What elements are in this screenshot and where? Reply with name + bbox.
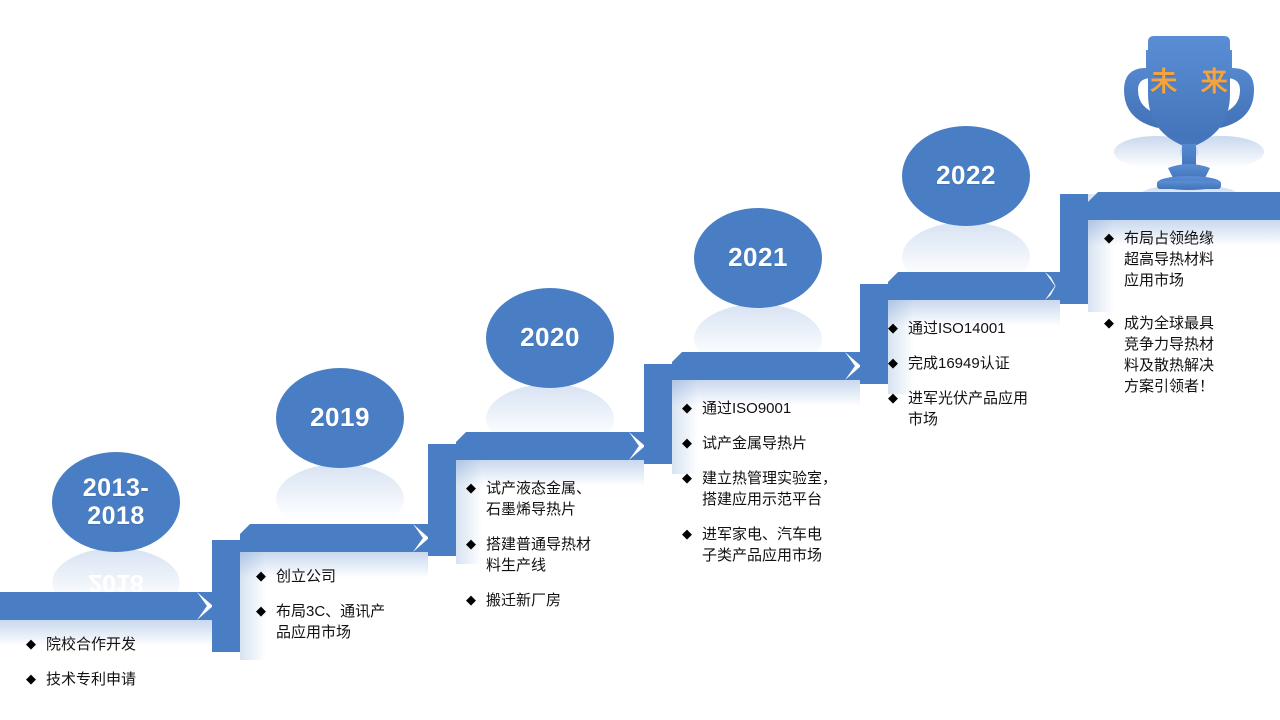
bullet-label: 进军家电、汽车电 子类产品应用市场 xyxy=(702,524,822,566)
bullet-item: ◆ 试产金属导热片 xyxy=(682,433,882,454)
diamond-bullet-icon: ◆ xyxy=(466,478,486,498)
bullet-item: ◆ 建立热管理实验室， 搭建应用示范平台 xyxy=(682,468,882,510)
bullet-item: ◆ 成为全球最具 竞争力导热材 料及散热解决 方案引领者！ xyxy=(1104,313,1274,397)
bullet-label: 搬迁新厂房 xyxy=(486,590,561,611)
diamond-bullet-icon: ◆ xyxy=(466,590,486,610)
diamond-bullet-icon: ◆ xyxy=(1104,313,1124,333)
diamond-bullet-icon: ◆ xyxy=(888,388,908,408)
year-label: 2019 xyxy=(310,403,370,432)
year-badge-reflection: 2018 xyxy=(52,548,180,618)
bullet-group-2019: ◆ 创立公司 ◆ 布局3C、通讯产 品应用市场 xyxy=(256,566,446,657)
bullet-label: 布局3C、通讯产 品应用市场 xyxy=(276,601,385,643)
year-badge-reflection xyxy=(276,464,404,534)
bullet-item: ◆ 完成16949认证 xyxy=(888,353,1078,374)
diamond-bullet-icon: ◆ xyxy=(682,524,702,544)
bullet-label: 通过ISO14001 xyxy=(908,318,1006,339)
diamond-bullet-icon: ◆ xyxy=(682,398,702,418)
diamond-bullet-icon: ◆ xyxy=(466,534,486,554)
diamond-bullet-icon: ◆ xyxy=(888,353,908,373)
bullet-group-2013-2018: ◆ 院校合作开发 ◆ 技术专利申请 xyxy=(26,634,226,704)
bullet-item: ◆ 通过ISO14001 xyxy=(888,318,1078,339)
year-badge-2022: 2022 xyxy=(902,126,1030,226)
bullet-label: 试产金属导热片 xyxy=(702,433,807,454)
diamond-bullet-icon: ◆ xyxy=(26,669,46,689)
diamond-bullet-icon: ◆ xyxy=(256,566,276,586)
year-label: 2020 xyxy=(520,323,580,352)
bullet-label: 通过ISO9001 xyxy=(702,398,791,419)
bullet-item: ◆ 技术专利申请 xyxy=(26,669,226,690)
bullet-item: ◆ 院校合作开发 xyxy=(26,634,226,655)
diamond-bullet-icon: ◆ xyxy=(682,468,702,488)
bullet-item: ◆ 通过ISO9001 xyxy=(682,398,882,419)
bullet-item: ◆ 试产液态金属、 石墨烯导热片 xyxy=(466,478,666,520)
step-riser-2 xyxy=(428,444,456,556)
bullet-item: ◆ 搬迁新厂房 xyxy=(466,590,666,611)
diamond-bullet-icon: ◆ xyxy=(1104,228,1124,248)
year-label: 2013- 2018 xyxy=(52,474,180,530)
bullet-item: ◆ 进军家电、汽车电 子类产品应用市场 xyxy=(682,524,882,566)
bullet-item: ◆ 创立公司 xyxy=(256,566,446,587)
diamond-bullet-icon: ◆ xyxy=(256,601,276,621)
year-badge-reflection xyxy=(486,384,614,454)
step-riser-4 xyxy=(860,284,888,384)
bullet-label: 技术专利申请 xyxy=(46,669,136,690)
trophy-icon: 未 来 xyxy=(1104,16,1274,201)
bullet-item: ◆ 布局3C、通讯产 品应用市场 xyxy=(256,601,446,643)
bullet-label: 试产液态金属、 石墨烯导热片 xyxy=(486,478,591,520)
timeline-infographic: 2013- 2018 2018 2019 2020 2021 2022 xyxy=(0,0,1280,720)
bullet-label: 院校合作开发 xyxy=(46,634,136,655)
year-label: 2022 xyxy=(936,161,996,190)
year-badge-reflection xyxy=(694,304,822,374)
bullet-label: 成为全球最具 竞争力导热材 料及散热解决 方案引领者！ xyxy=(1124,313,1214,397)
bullet-label: 完成16949认证 xyxy=(908,353,1010,374)
step-riser-5 xyxy=(1060,194,1088,304)
bullet-group-2022: ◆ 通过ISO14001 ◆ 完成16949认证 ◆ 进军光伏产品应用 市场 xyxy=(888,318,1078,444)
bullet-label: 进军光伏产品应用 市场 xyxy=(908,388,1028,430)
trophy-label: 未 来 xyxy=(1104,60,1274,99)
bullet-label: 建立热管理实验室， 搭建应用示范平台 xyxy=(702,468,837,510)
year-badge-reflection xyxy=(902,222,1030,292)
diamond-bullet-icon: ◆ xyxy=(26,634,46,654)
bullet-label: 创立公司 xyxy=(276,566,336,587)
bullet-item: ◆ 布局占领绝缘 超高导热材料 应用市场 xyxy=(1104,228,1274,291)
year-badge-2021: 2021 xyxy=(694,208,822,308)
diamond-bullet-icon: ◆ xyxy=(888,318,908,338)
year-badge-2013-2018: 2013- 2018 xyxy=(52,452,180,552)
diamond-bullet-icon: ◆ xyxy=(682,433,702,453)
bullet-group-future: ◆ 布局占领绝缘 超高导热材料 应用市场 ◆ 成为全球最具 竞争力导热材 料及散… xyxy=(1104,228,1274,411)
year-badge-2020: 2020 xyxy=(486,288,614,388)
bullet-group-2020: ◆ 试产液态金属、 石墨烯导热片 ◆ 搭建普通导热材 料生产线 ◆ 搬迁新厂房 xyxy=(466,478,666,625)
year-badge-2019: 2019 xyxy=(276,368,404,468)
bullet-label: 布局占领绝缘 超高导热材料 应用市场 xyxy=(1124,228,1214,291)
bullet-label: 搭建普通导热材 料生产线 xyxy=(486,534,591,576)
bullet-group-2021: ◆ 通过ISO9001 ◆ 试产金属导热片 ◆ 建立热管理实验室， 搭建应用示范… xyxy=(682,398,882,580)
step-riser-3 xyxy=(644,364,672,464)
year-label: 2021 xyxy=(728,243,788,272)
bullet-item: ◆ 搭建普通导热材 料生产线 xyxy=(466,534,666,576)
bullet-item: ◆ 进军光伏产品应用 市场 xyxy=(888,388,1078,430)
